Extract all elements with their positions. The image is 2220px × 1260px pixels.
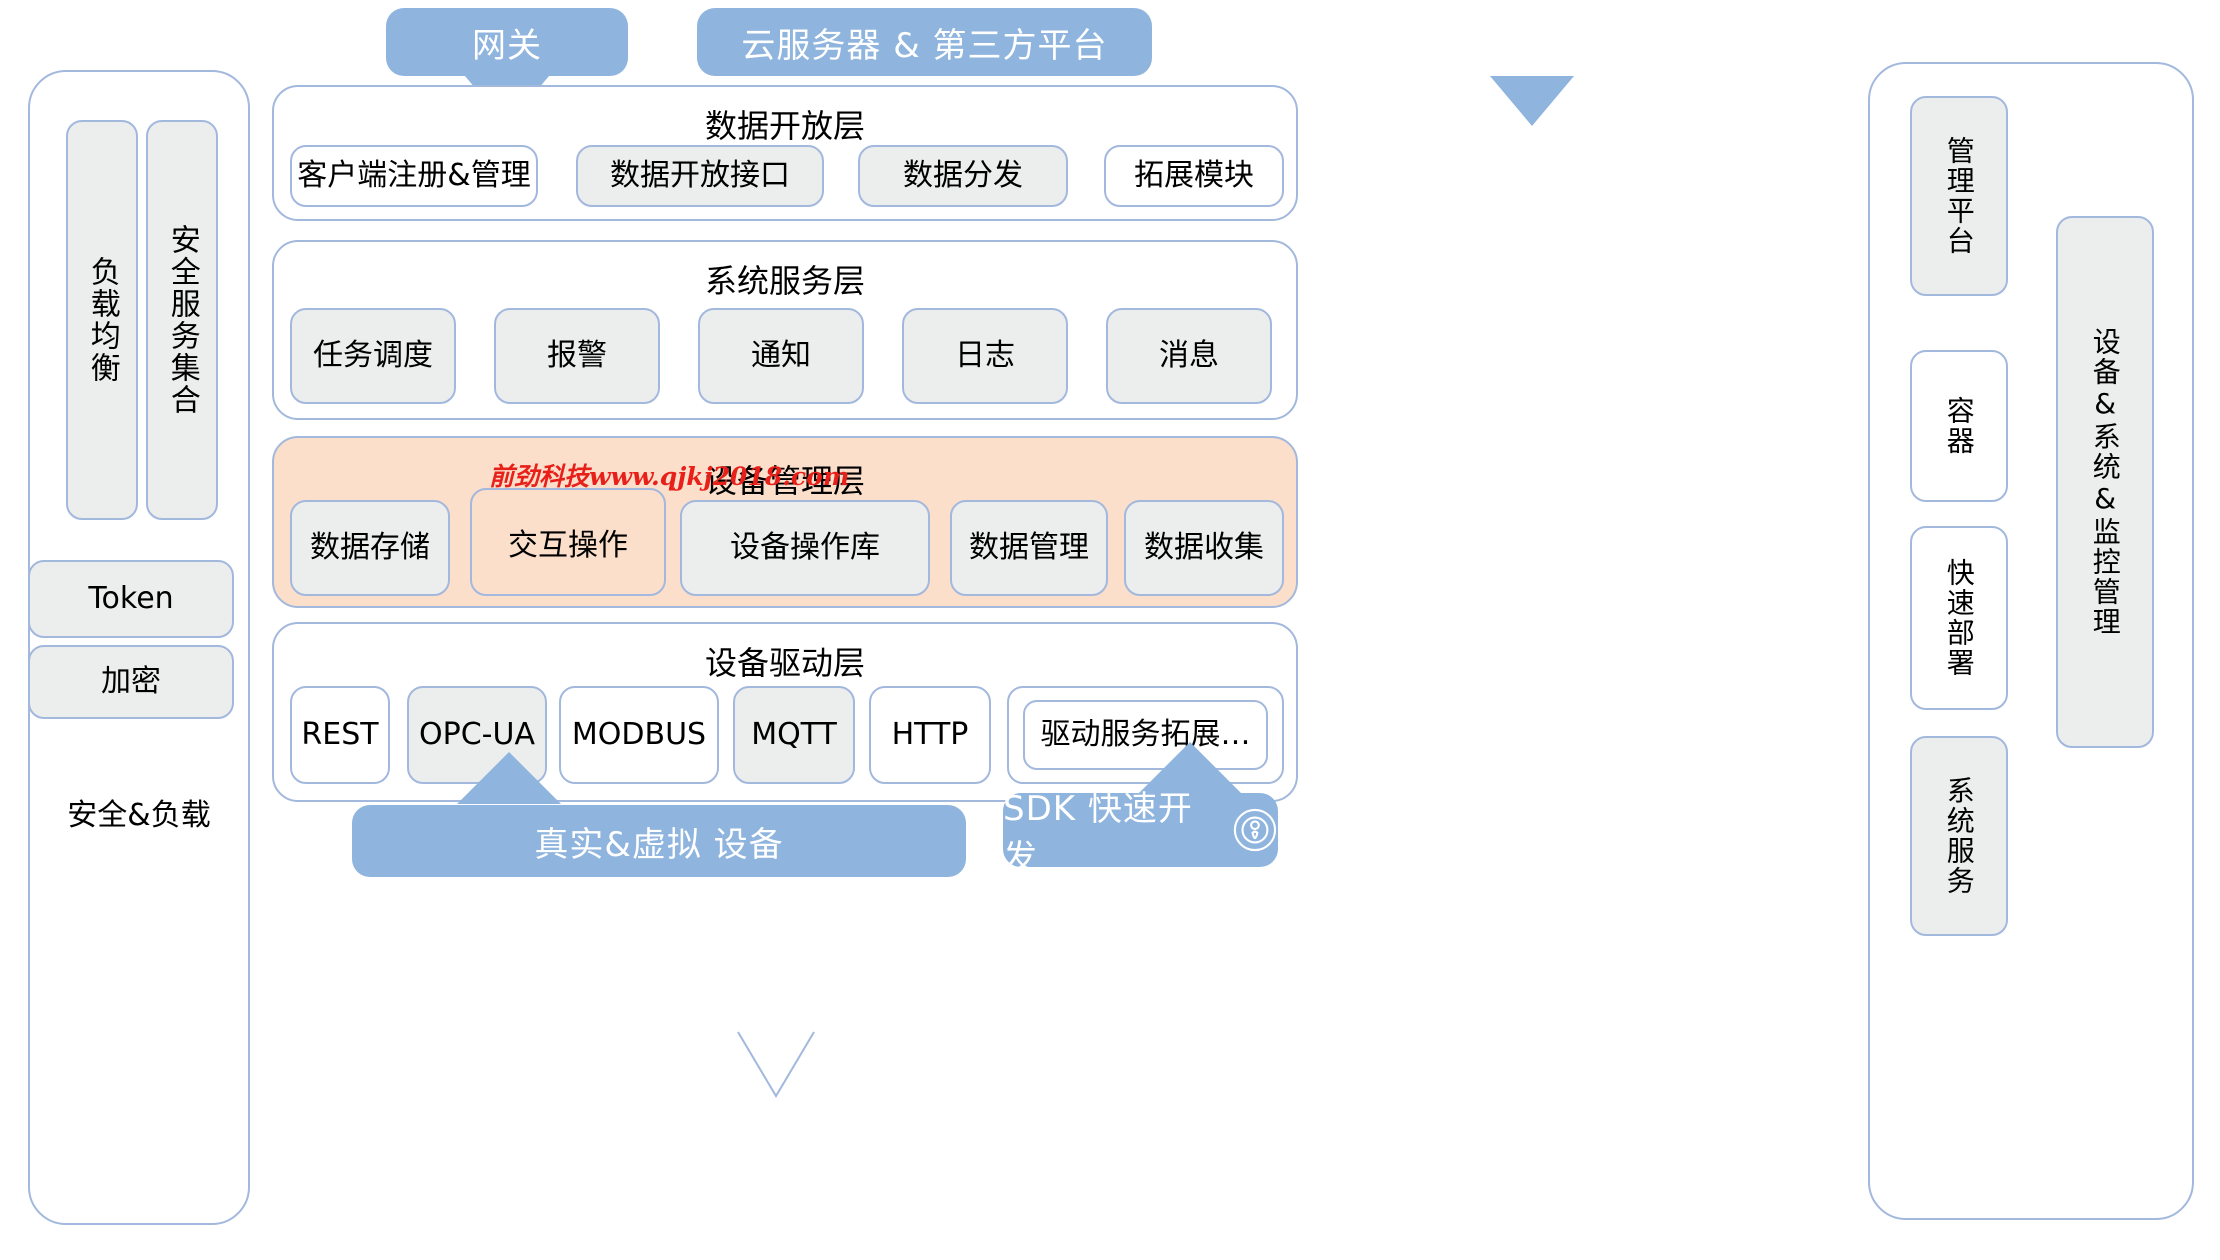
data-collection-label: 数据收集 — [1144, 531, 1264, 565]
device-driver-layer-title: 设备驱动层 — [274, 638, 1296, 684]
system-service-chip[interactable]: 系统服务 — [1910, 736, 2008, 936]
http-chip[interactable]: HTTP — [869, 686, 991, 784]
interactive-operation-pointer — [736, 1030, 822, 1100]
system-service-layer: 系统服务层 任务调度 报警 通知 日志 消息 — [272, 240, 1298, 420]
real-virtual-device-label: 真实&虚拟 设备 — [534, 817, 783, 866]
gateway-callout[interactable]: 网关 — [386, 8, 628, 76]
security-service-set-chip[interactable]: 安全服务集合 — [146, 120, 218, 520]
modbus-label: MODBUS — [572, 718, 706, 752]
container-label: 容器 — [1943, 396, 1974, 456]
mqtt-chip[interactable]: MQTT — [733, 686, 855, 784]
http-label: HTTP — [892, 718, 969, 752]
real-virtual-device-pointer — [457, 752, 561, 804]
alarm-label: 报警 — [547, 339, 607, 373]
device-system-monitor-label: 设备&系统&监控管理 — [2089, 327, 2120, 637]
system-service-layer-title: 系统服务层 — [274, 256, 1296, 302]
gateway-callout-label: 网关 — [472, 18, 542, 67]
load-balance-label: 负载均衡 — [85, 256, 119, 384]
opcua-label: OPC-UA — [419, 718, 535, 752]
sdk-callout[interactable]: SDK 快速开发 — [1003, 793, 1278, 867]
client-register-label: 客户端注册&管理 — [297, 159, 530, 193]
real-virtual-device-callout[interactable]: 真实&虚拟 设备 — [352, 805, 966, 877]
security-load-panel-caption: 安全&负载 — [30, 790, 248, 834]
broadcast-icon — [1232, 806, 1278, 854]
device-operation-library-label: 设备操作库 — [730, 531, 880, 565]
data-open-layer-title: 数据开放层 — [274, 101, 1296, 147]
log-chip[interactable]: 日志 — [902, 308, 1068, 404]
rapid-deploy-label: 快速部署 — [1943, 558, 1974, 678]
data-open-api-label: 数据开放接口 — [610, 159, 790, 193]
data-storage-chip[interactable]: 数据存储 — [290, 500, 450, 596]
message-label: 消息 — [1159, 339, 1219, 373]
sdk-callout-label: SDK 快速开发 — [1003, 781, 1218, 879]
security-load-panel: 负载均衡 安全服务集合 Token 加密 安全&负载 — [28, 70, 250, 1225]
rest-chip[interactable]: REST — [290, 686, 390, 784]
notification-label: 通知 — [751, 339, 811, 373]
data-management-chip[interactable]: 数据管理 — [950, 500, 1108, 596]
token-label: Token — [88, 582, 173, 616]
extension-module-chip[interactable]: 拓展模块 — [1104, 145, 1284, 207]
system-service-label: 系统服务 — [1943, 776, 1974, 896]
watermark: 前劲科技www.qjkj2018.com — [489, 457, 849, 493]
management-platform-label: 管理平台 — [1943, 136, 1974, 256]
encryption-label: 加密 — [101, 665, 161, 699]
log-label: 日志 — [955, 339, 1015, 373]
security-service-set-label: 安全服务集合 — [165, 224, 199, 416]
client-register-chip[interactable]: 客户端注册&管理 — [290, 145, 538, 207]
device-system-monitor-chip[interactable]: 设备&系统&监控管理 — [2056, 216, 2154, 748]
architecture-diagram: 网关 云服务器 & 第三方平台 负载均衡 安全服务集合 Token 加密 安全&… — [0, 0, 2220, 1260]
message-chip[interactable]: 消息 — [1106, 308, 1272, 404]
alarm-chip[interactable]: 报警 — [494, 308, 660, 404]
mqtt-label: MQTT — [751, 718, 837, 752]
extension-module-label: 拓展模块 — [1134, 159, 1254, 193]
interactive-operation-label: 交互操作 — [508, 520, 628, 564]
load-balance-chip[interactable]: 负载均衡 — [66, 120, 138, 520]
modbus-chip[interactable]: MODBUS — [559, 686, 719, 784]
notification-chip[interactable]: 通知 — [698, 308, 864, 404]
cloud-server-callout-pointer — [1490, 76, 1574, 126]
rest-label: REST — [301, 718, 378, 752]
interactive-operation-callout[interactable]: 交互操作 — [470, 488, 666, 596]
device-operation-library-chip[interactable]: 设备操作库 — [680, 500, 930, 596]
rapid-deploy-chip[interactable]: 快速部署 — [1910, 526, 2008, 710]
task-schedule-chip[interactable]: 任务调度 — [290, 308, 456, 404]
token-chip[interactable]: Token — [28, 560, 234, 638]
data-open-api-chip[interactable]: 数据开放接口 — [576, 145, 824, 207]
container-chip[interactable]: 容器 — [1910, 350, 2008, 502]
data-storage-label: 数据存储 — [310, 531, 430, 565]
encryption-chip[interactable]: 加密 — [28, 645, 234, 719]
data-distribution-chip[interactable]: 数据分发 — [858, 145, 1068, 207]
task-schedule-label: 任务调度 — [313, 339, 433, 373]
data-distribution-label: 数据分发 — [903, 159, 1023, 193]
management-panel: 管理平台 容器 快速部署 系统服务 设备&系统&监控管理 — [1868, 62, 2194, 1220]
cloud-server-callout-label: 云服务器 & 第三方平台 — [741, 18, 1107, 67]
management-platform-chip[interactable]: 管理平台 — [1910, 96, 2008, 296]
data-open-layer: 数据开放层 客户端注册&管理 数据开放接口 数据分发 拓展模块 — [272, 85, 1298, 221]
data-collection-chip[interactable]: 数据收集 — [1124, 500, 1284, 596]
cloud-server-callout[interactable]: 云服务器 & 第三方平台 — [697, 8, 1152, 76]
data-management-label: 数据管理 — [969, 531, 1089, 565]
